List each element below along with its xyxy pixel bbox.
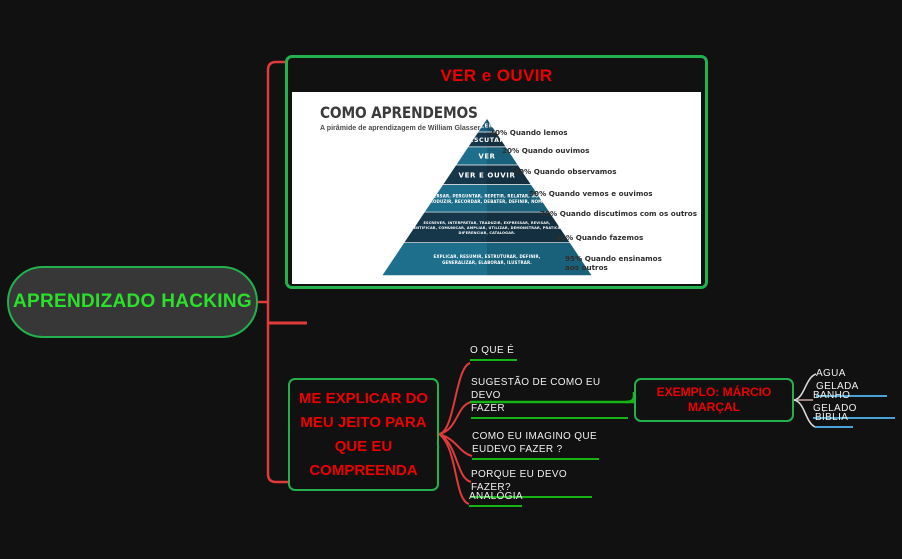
- svg-text:ESCUTAR: ESCUTAR: [469, 137, 505, 144]
- svg-text:REPRODUZIR, RECORDAR, DEBATER,: REPRODUZIR, RECORDAR, DEBATER, DEFINIR, …: [421, 199, 554, 204]
- learning-pyramid-image: COMO APRENDEMOS A pirâmide de aprendizag…: [292, 92, 701, 284]
- pyramid-caption-2: 30% Quando observamos: [514, 167, 617, 176]
- branch-exemplo-marcio-marcal[interactable]: EXEMPLO: MÁRCIO MARÇAL: [634, 378, 794, 422]
- branch-ver-e-ouvir[interactable]: VER e OUVIR COMO APRENDEMOS A pirâmide d…: [285, 55, 708, 289]
- root-node[interactable]: APRENDIZADO HACKING: [7, 266, 258, 338]
- svg-text:IDENTIFICAR, COMUNICAR, AMPLIA: IDENTIFICAR, COMUNICAR, AMPLIAR, UTILIZA…: [409, 226, 565, 230]
- svg-text:ESCREVER, INTERPRETAR, TRADUZI: ESCREVER, INTERPRETAR, TRADUZIR, EXPRESS…: [423, 221, 550, 225]
- root-node-label: APRENDIZADO HACKING: [13, 290, 252, 314]
- leaf-analogia[interactable]: ANALÓGIA: [469, 490, 522, 507]
- leaf-como-eu-imagino[interactable]: COMO EU IMAGINO QUE EUDEVO FAZER ?: [472, 430, 599, 460]
- pyramid-caption-1: 20% Quando ouvimos: [502, 146, 589, 155]
- svg-text:DIFERENCIAR, CATALOGAR.: DIFERENCIAR, CATALOGAR.: [459, 231, 516, 235]
- svg-text:VER: VER: [479, 153, 496, 161]
- leaf-biblia[interactable]: BÍBLIA: [815, 411, 853, 428]
- svg-text:GENERALIZAR, ELABORAR, ILUSTRA: GENERALIZAR, ELABORAR, ILUSTRAR.: [442, 260, 532, 265]
- leaf-sugestao[interactable]: SUGESTÃO DE COMO EU DEVO FAZER: [471, 376, 628, 419]
- pyramid-caption-5: 80% Quando fazemos: [556, 233, 643, 242]
- branch-exemplo-label: EXEMPLO: MÁRCIO MARÇAL: [636, 385, 792, 415]
- pyramid-caption-3: 50% Quando vemos e ouvimos: [529, 189, 653, 198]
- pyramid-caption-0: 10% Quando lemos: [490, 128, 568, 137]
- pyramid-caption-6: 95% Quando ensinamos aos outros: [565, 254, 662, 272]
- svg-text:EXPLICAR, RESUMIR, ESTRUTURAR,: EXPLICAR, RESUMIR, ESTRUTURAR, DEFINIR,: [434, 254, 541, 259]
- branch-me-explicar-label: ME EXPLICAR DO MEU JEITO PARA QUE EU COM…: [295, 387, 432, 483]
- pyramid-caption-4: 70% Quando discutimos com os outros: [540, 209, 697, 218]
- svg-text:VER E OUVIR: VER E OUVIR: [459, 172, 516, 180]
- branch-me-explicar[interactable]: ME EXPLICAR DO MEU JEITO PARA QUE EU COM…: [288, 378, 439, 491]
- leaf-o-que-e[interactable]: O QUE É: [470, 344, 517, 361]
- branch-ver-e-ouvir-title: VER e OUVIR: [292, 62, 701, 92]
- mindmap-canvas: APRENDIZADO HACKING VER e OUVIR COMO APR…: [0, 0, 902, 559]
